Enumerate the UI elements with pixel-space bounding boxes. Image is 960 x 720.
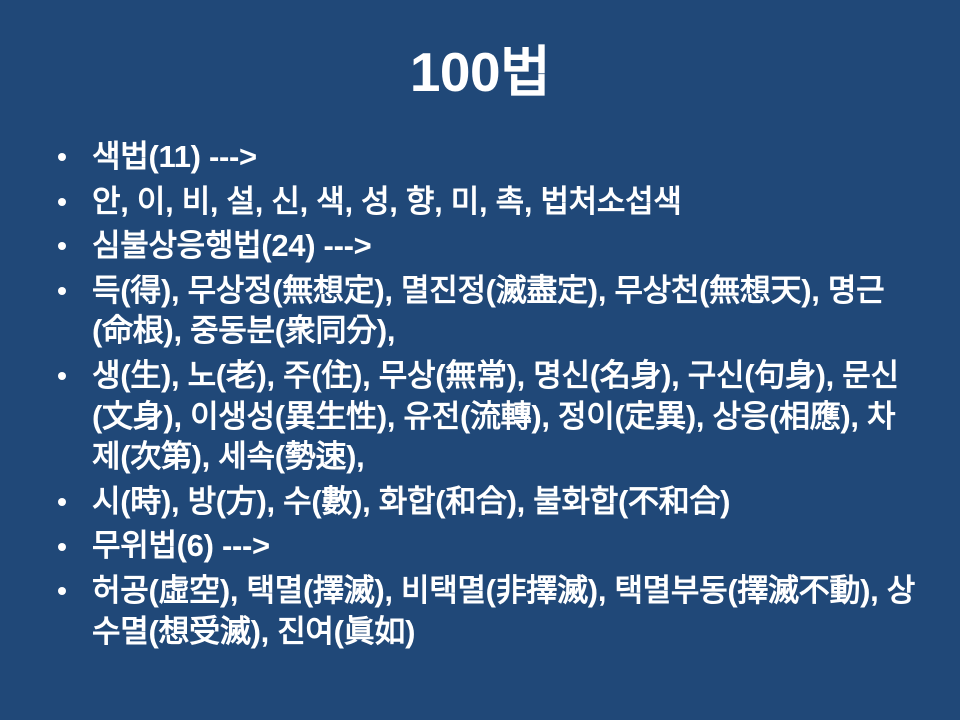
- list-item: 생(生), 노(老), 주(住), 무상(無常), 명신(名身), 구신(句身)…: [48, 356, 920, 478]
- list-item: 득(得), 무상정(無想定), 멸진정(滅盡定), 무상천(無想天), 명근(命…: [48, 271, 920, 352]
- bullet-dot-icon: [58, 153, 66, 161]
- list-item: 색법(11) --->: [48, 137, 920, 178]
- list-item: 안, 이, 비, 설, 신, 색, 성, 향, 미, 촉, 법처소섭색: [48, 182, 920, 223]
- list-item: 시(時), 방(方), 수(數), 화합(和合), 불화합(不和合): [48, 482, 920, 523]
- list-item-label: 안, 이, 비, 설, 신, 색, 성, 향, 미, 촉, 법처소섭색: [92, 182, 920, 223]
- list-item-label: 색법(11) --->: [92, 137, 920, 178]
- list-item-label: 허공(虛空), 택멸(擇滅), 비택멸(非擇滅), 택멸부동(擇滅不動), 상수…: [92, 571, 920, 652]
- bullet-dot-icon: [58, 242, 66, 250]
- list-item: 허공(虛空), 택멸(擇滅), 비택멸(非擇滅), 택멸부동(擇滅不動), 상수…: [48, 571, 920, 652]
- list-item-label: 시(時), 방(方), 수(數), 화합(和合), 불화합(不和合): [92, 482, 920, 523]
- bullet-dot-icon: [58, 287, 66, 295]
- bullet-dot-icon: [58, 543, 66, 551]
- list-item-label: 무위법(6) --->: [92, 526, 920, 567]
- bullet-dot-icon: [58, 372, 66, 380]
- list-item: 심불상응행법(24) --->: [48, 226, 920, 267]
- list-item-label: 생(生), 노(老), 주(住), 무상(無常), 명신(名身), 구신(句身)…: [92, 356, 920, 478]
- bullet-list: 색법(11) ---> 안, 이, 비, 설, 신, 색, 성, 향, 미, 촉…: [48, 137, 920, 656]
- list-item-label: 득(得), 무상정(無想定), 멸진정(滅盡定), 무상천(無想天), 명근(命…: [92, 271, 920, 352]
- bullet-dot-icon: [58, 498, 66, 506]
- bullet-dot-icon: [58, 198, 66, 206]
- list-item-label: 심불상응행법(24) --->: [92, 226, 920, 267]
- page-title: 100법: [0, 44, 960, 102]
- presentation-slide: 100법 색법(11) ---> 안, 이, 비, 설, 신, 색, 성, 향,…: [0, 0, 960, 720]
- list-item: 무위법(6) --->: [48, 526, 920, 567]
- bullet-dot-icon: [58, 587, 66, 595]
